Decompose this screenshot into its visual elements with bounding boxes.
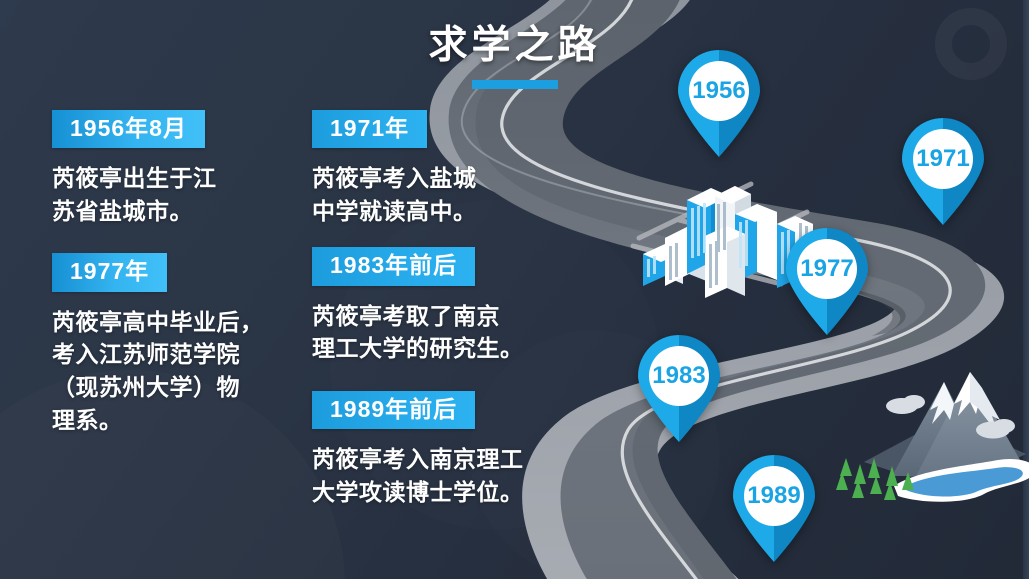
timeline-entry-1971: 1971年 芮筱亭考入盐城 中学就读高中。 xyxy=(312,110,582,227)
map-pin-label: 1989 xyxy=(731,455,817,537)
year-badge-1983[interactable]: 1983年前后 xyxy=(312,247,475,285)
slide-canvas: 求学之路 1956年8月 芮筱亭出生于江 苏省盐城市。 1977年 芮筱亭高中毕… xyxy=(0,0,1029,579)
map-pin-label: 1983 xyxy=(636,335,722,417)
year-badge-1956[interactable]: 1956年8月 xyxy=(52,110,205,148)
entry-text-1977: 芮筱亭高中毕业后， 考入江苏师范学院 （现苏州大学）物 理系。 xyxy=(52,306,302,437)
timeline-entry-1983: 1983年前后 芮筱亭考取了南京 理工大学的研究生。 xyxy=(312,247,582,364)
map-pin-1983[interactable]: 1983 xyxy=(636,335,722,443)
map-pin-1977[interactable]: 1977 xyxy=(784,228,870,336)
map-pin-label: 1956 xyxy=(676,50,762,132)
left-column: 1956年8月 芮筱亭出生于江 苏省盐城市。 1977年 芮筱亭高中毕业后， 考… xyxy=(52,110,302,436)
map-pin-label: 1977 xyxy=(784,228,870,310)
map-pin-1956[interactable]: 1956 xyxy=(676,50,762,158)
timeline-entry-1989: 1989年前后 芮筱亭考入南京理工 大学攻读博士学位。 xyxy=(312,391,582,508)
entry-text-1983: 芮筱亭考取了南京 理工大学的研究生。 xyxy=(312,300,582,365)
entry-text-1971: 芮筱亭考入盐城 中学就读高中。 xyxy=(312,162,582,227)
map-pin-1989[interactable]: 1989 xyxy=(731,455,817,563)
middle-column: 1971年 芮筱亭考入盐城 中学就读高中。 1983年前后 芮筱亭考取了南京 理… xyxy=(312,110,582,508)
map-pin-1971[interactable]: 1971 xyxy=(900,118,986,226)
timeline-entry-1977: 1977年 芮筱亭高中毕业后， 考入江苏师范学院 （现苏州大学）物 理系。 xyxy=(52,253,302,436)
entry-text-1956: 芮筱亭出生于江 苏省盐城市。 xyxy=(52,162,302,227)
map-pin-label: 1971 xyxy=(900,118,986,200)
page-title: 求学之路 xyxy=(428,14,600,70)
page-title-wrap: 求学之路 xyxy=(0,14,1029,89)
year-badge-1977[interactable]: 1977年 xyxy=(52,253,167,291)
year-badge-1989[interactable]: 1989年前后 xyxy=(312,391,475,429)
timeline-entry-1956: 1956年8月 芮筱亭出生于江 苏省盐城市。 xyxy=(52,110,302,227)
year-badge-1971[interactable]: 1971年 xyxy=(312,110,427,148)
title-underline xyxy=(472,80,558,89)
entry-text-1989: 芮筱亭考入南京理工 大学攻读博士学位。 xyxy=(312,443,582,508)
